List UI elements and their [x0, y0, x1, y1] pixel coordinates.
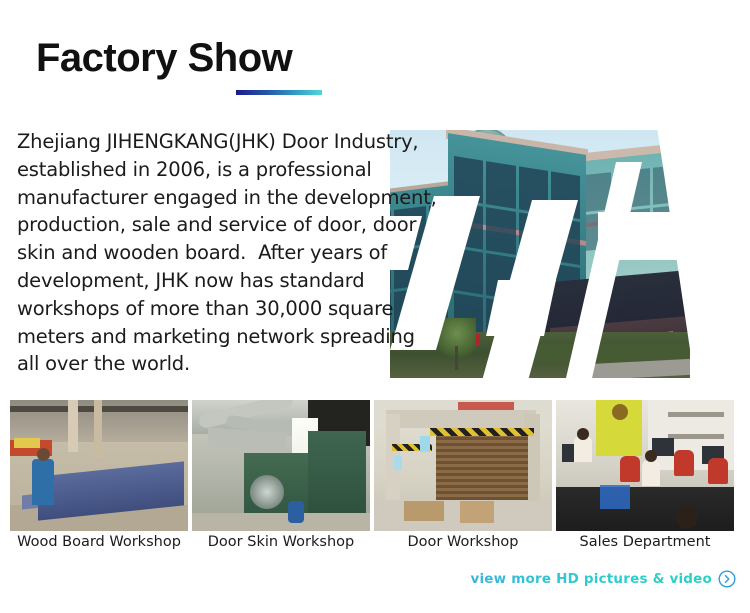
caption-sales-department: Sales Department: [556, 532, 734, 552]
gallery-item-door-skin-workshop[interactable]: [192, 400, 370, 531]
chevron-right-circle-icon[interactable]: [718, 570, 736, 588]
gallery-item-door-workshop[interactable]: [374, 400, 552, 531]
gallery-item-sales-department[interactable]: [556, 400, 734, 531]
caption-wood-board-workshop: Wood Board Workshop: [10, 532, 188, 552]
workshop-gallery: [10, 400, 740, 531]
page-title: Factory Show: [36, 32, 292, 84]
view-more-link[interactable]: view more HD pictures & video: [470, 570, 736, 588]
gallery-captions: Wood Board Workshop Door Skin Workshop D…: [10, 532, 740, 552]
factory-show-page: Factory Show 浙江基恒康门业有限公司: [0, 0, 750, 613]
title-underline-accent: [236, 90, 322, 95]
right-building-windows: [576, 164, 688, 252]
caption-door-workshop: Door Workshop: [374, 532, 552, 552]
company-intro-text: Zhejiang JIHENGKANG(JHK) Door Industry, …: [17, 128, 437, 378]
view-more-link-label: view more HD pictures & video: [470, 571, 712, 587]
gallery-item-wood-board-workshop[interactable]: [10, 400, 188, 531]
tree-trunk: [455, 346, 458, 370]
caption-door-skin-workshop: Door Skin Workshop: [192, 532, 370, 552]
